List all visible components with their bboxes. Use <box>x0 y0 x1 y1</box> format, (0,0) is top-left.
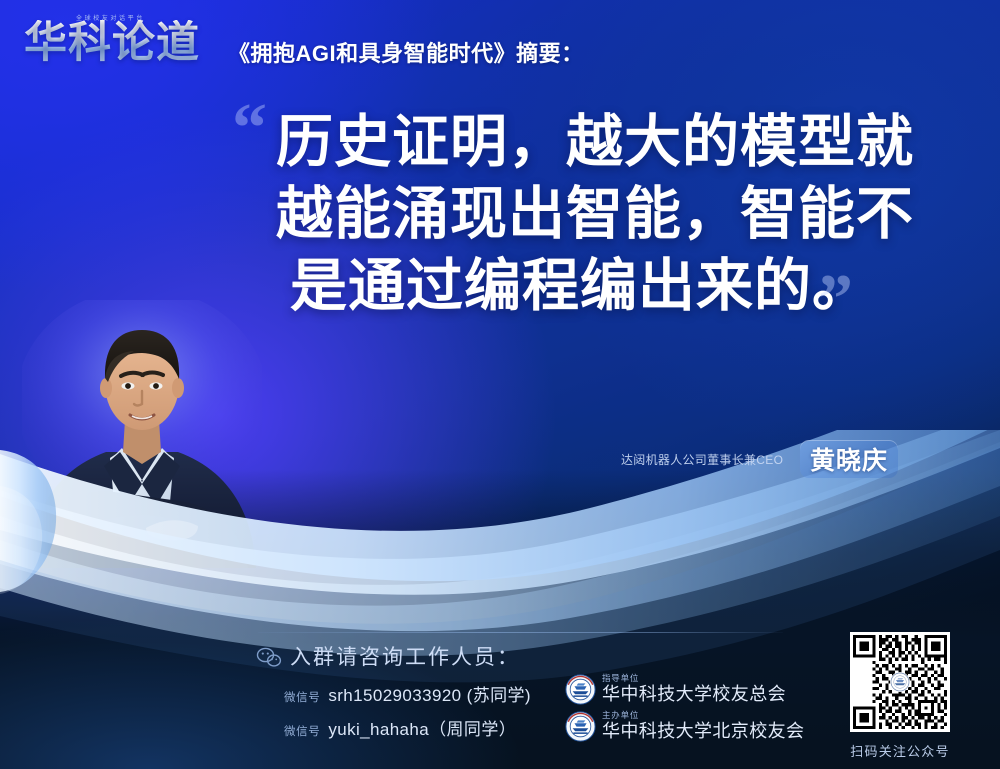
organizer-row: 主办单位 华中科技大学北京校友会 <box>565 709 804 743</box>
contact-label: 微信号 <box>284 689 320 705</box>
poster-canvas: 全球校友对话平台 华科论道 《拥抱AGI和具身智能时代》摘要： “ 历史证明，越… <box>0 0 1000 769</box>
qr-caption: 扫码关注公众号 <box>838 741 962 760</box>
contact-row[interactable]: 微信号 srh15029033920 (苏同学) <box>284 681 531 715</box>
contact-value: yuki_hahaha（周同学） <box>328 715 516 740</box>
organizer-row: 指导单位 华中科技大学校友总会 <box>565 672 804 706</box>
brand-logo[interactable]: 全球校友对话平台 华科论道 <box>24 14 220 68</box>
quote-line-1: 历史证明，越大的模型就 <box>276 106 948 178</box>
organizer-name: 华中科技大学北京校友会 <box>602 721 804 742</box>
qr-code-icon[interactable] <box>850 632 950 732</box>
quote-open-mark: “ <box>232 104 267 154</box>
header: 全球校友对话平台 华科论道 《拥抱AGI和具身智能时代》摘要： <box>0 0 1000 88</box>
contact-row[interactable]: 微信号 yuki_hahaha（周同学） <box>284 715 531 749</box>
speaker-name: 黄晓庆 <box>800 440 898 478</box>
footer-divider <box>258 632 783 633</box>
contact-label: 微信号 <box>284 723 320 739</box>
contact-value: srh15029033920 (苏同学) <box>328 681 531 706</box>
organizer-kind: 主办单位 <box>602 710 804 721</box>
quote-close-mark: ” <box>818 275 853 325</box>
organizer-kind: 指导单位 <box>602 673 786 684</box>
organizer-name: 华中科技大学校友总会 <box>602 684 786 705</box>
join-group-cta: 入群请咨询工作人员： <box>290 641 520 671</box>
speaker-role: 达闼机器人公司董事长兼CEO <box>621 451 783 468</box>
contact-list: 微信号 srh15029033920 (苏同学) 微信号 yuki_hahaha… <box>284 681 531 749</box>
hust-seal-icon <box>565 674 596 705</box>
hust-seal-icon <box>565 711 596 742</box>
qr-block: 扫码关注公众号 <box>838 632 962 760</box>
organizer-list: 指导单位 华中科技大学校友总会 主办单位 <box>565 672 804 746</box>
speaker-name-badge: 黄晓庆 <box>800 440 898 478</box>
page-title: 《拥抱AGI和具身智能时代》摘要： <box>228 36 584 68</box>
brand-logo-text: 华科论道 <box>24 20 200 66</box>
wechat-icon <box>256 646 282 668</box>
qr-center-seal-icon <box>890 672 910 692</box>
quote-line-2: 越能涌现出智能，智能不 <box>276 178 948 250</box>
